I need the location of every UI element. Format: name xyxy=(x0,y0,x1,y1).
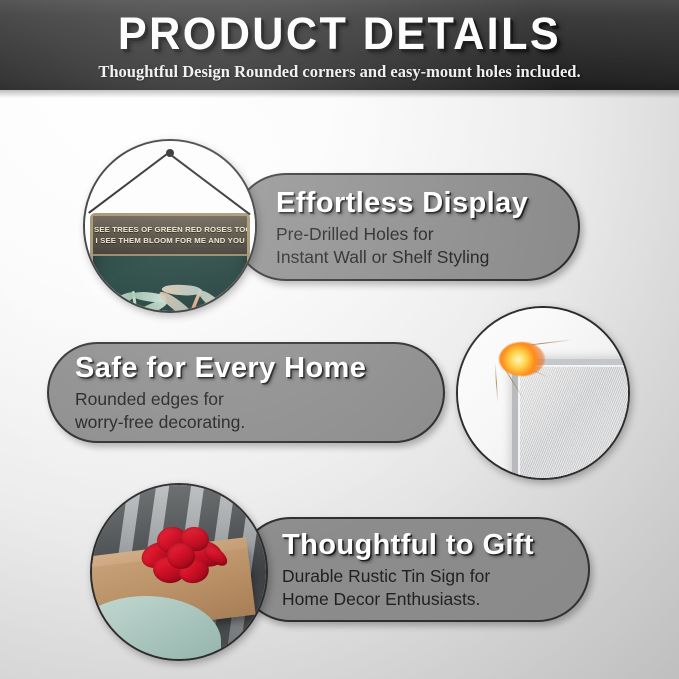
metal-sign-panel xyxy=(512,359,630,480)
tin-sign-plate: I SEE TREES OF GREEN RED ROSES TOO I SEE… xyxy=(90,213,250,313)
product-details-infographic: PRODUCT DETAILS Thoughtful Design Rounde… xyxy=(0,0,679,679)
feature-subtext-line1-thoughtful-to-gift: Durable Rustic Tin Sign for xyxy=(282,565,570,588)
feature-heading-thoughtful-to-gift: Thoughtful to Gift xyxy=(282,528,570,562)
feature-subtext-line2-thoughtful-to-gift: Home Decor Enthusiasts. xyxy=(282,588,570,611)
feature-image-dragonfly-tin-sign: I SEE TREES OF GREEN RED ROSES TOO I SEE… xyxy=(83,139,257,313)
ribbon-bow xyxy=(141,527,223,589)
feature-subtext-line1-safe-for-every-home: Rounded edges for xyxy=(75,388,425,411)
feature-pill-safe-for-every-home: Safe for Every Home Rounded edges for wo… xyxy=(47,342,445,443)
dragonfly-2 xyxy=(154,268,232,313)
feature-subtext-line1-effortless-display: Pre-Drilled Holes for xyxy=(276,223,560,246)
rounded-metal-corner-photo xyxy=(458,308,628,478)
hanging-cord-left xyxy=(88,152,170,214)
dragonfly-1 xyxy=(112,285,157,313)
gift-box-photo xyxy=(92,485,266,659)
bow-loop-center xyxy=(167,543,195,569)
feature-pill-effortless-display: Effortless Display Pre-Drilled Holes for… xyxy=(232,173,580,281)
sign-text-line1: I SEE TREES OF GREEN RED ROSES TOO xyxy=(90,224,250,235)
corner-glow-highlight xyxy=(499,342,545,376)
dragonfly-tin-sign-photo: I SEE TREES OF GREEN RED ROSES TOO I SEE… xyxy=(85,141,255,311)
feature-subtext-line2-effortless-display: Instant Wall or Shelf Styling xyxy=(276,246,560,269)
feature-heading-safe-for-every-home: Safe for Every Home xyxy=(75,351,425,385)
sign-text-plate: I SEE TREES OF GREEN RED ROSES TOO I SEE… xyxy=(93,216,247,256)
page-subtitle: Thoughtful Design Rounded corners and ea… xyxy=(0,62,679,82)
feature-pill-thoughtful-to-gift: Thoughtful to Gift Durable Rustic Tin Si… xyxy=(238,517,590,622)
feature-image-gift-box xyxy=(90,483,268,661)
hanging-cord-right xyxy=(169,153,251,215)
page-title: PRODUCT DETAILS xyxy=(14,8,666,60)
feature-subtext-line2-safe-for-every-home: worry-free decorating. xyxy=(75,411,425,434)
feature-heading-effortless-display: Effortless Display xyxy=(276,186,560,220)
spark-line-4 xyxy=(495,363,499,403)
sign-text-line2: I SEE THEM BLOOM FOR ME AND YOU xyxy=(95,235,244,246)
feature-image-rounded-metal-corner xyxy=(456,306,630,480)
